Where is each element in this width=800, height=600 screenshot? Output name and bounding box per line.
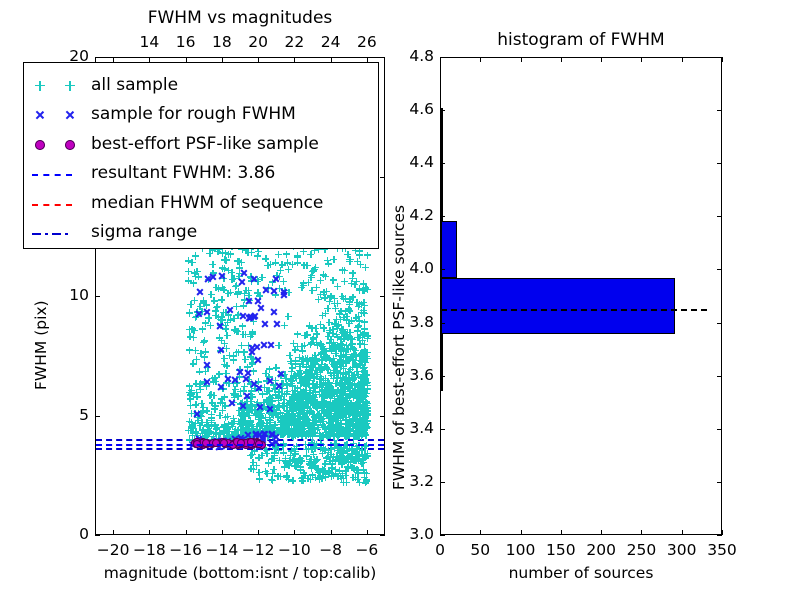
axis-tick [222,530,223,535]
all-sample-marker [221,265,228,272]
all-sample-marker [326,424,333,431]
all-sample-marker [245,287,252,294]
all-sample-marker [334,387,341,394]
all-sample-marker [327,293,334,300]
all-sample-marker [335,417,342,424]
all-sample-marker [231,275,238,282]
all-sample-marker [292,390,299,397]
figure-canvas: FWHM vs magnitudes −20−18−16−14−12−10−8−… [0,0,800,600]
all-sample-marker [354,455,361,462]
all-sample-marker [296,404,303,411]
all-sample-marker [202,368,209,375]
all-sample-marker [352,387,359,394]
all-sample-marker [363,371,370,378]
all-sample-marker [361,402,368,409]
all-sample-marker [329,342,336,349]
rough-fwhm-sample-marker [245,297,253,305]
all-sample-marker [328,405,335,412]
all-sample-marker [213,429,220,436]
all-sample-marker [336,389,343,396]
all-sample-marker [290,430,297,437]
all-sample-marker [297,427,304,434]
all-sample-marker [339,413,346,420]
all-sample-marker [347,366,354,373]
all-sample-marker [327,400,334,407]
all-sample-marker [197,350,204,357]
all-sample-marker [310,451,317,458]
all-sample-marker [341,409,348,416]
all-sample-marker [328,372,335,379]
all-sample-marker [251,406,258,413]
all-sample-marker [188,419,195,426]
all-sample-marker [336,457,343,464]
all-sample-marker [231,428,238,435]
all-sample-marker [289,364,296,371]
all-sample-marker [240,411,247,418]
all-sample-marker [245,249,252,256]
all-sample-marker [336,449,343,456]
all-sample-marker [291,456,298,463]
all-sample-marker [343,313,350,320]
all-sample-marker [331,360,338,367]
all-sample-marker [281,413,288,420]
all-sample-marker [244,395,251,402]
all-sample-marker [268,395,275,402]
all-sample-marker [275,404,282,411]
all-sample-marker [286,415,293,422]
all-sample-marker [340,405,347,412]
all-sample-marker [330,413,337,420]
legend-entry: resultant FWHM: 3.86 [24,160,378,190]
all-sample-marker [201,378,208,385]
all-sample-marker [352,361,359,368]
axis-tick [440,57,445,58]
all-sample-marker [360,307,367,314]
all-sample-marker [346,393,353,400]
all-sample-marker [280,396,287,403]
all-sample-marker [328,451,335,458]
all-sample-marker [324,407,331,414]
all-sample-marker [265,431,272,438]
all-sample-marker [259,427,266,434]
all-sample-marker [268,456,275,463]
all-sample-marker [309,426,316,433]
all-sample-marker [303,453,310,460]
all-sample-marker [220,424,227,431]
all-sample-marker [231,418,238,425]
all-sample-marker [361,353,368,360]
all-sample-marker [286,431,293,438]
all-sample-marker [187,402,194,409]
all-sample-marker [342,394,349,401]
all-sample-marker [356,334,363,341]
all-sample-marker [349,341,356,348]
histogram-bar [441,278,675,335]
all-sample-marker [231,327,238,334]
all-sample-marker [280,426,287,433]
all-sample-marker [343,358,350,365]
all-sample-marker [298,370,305,377]
all-sample-marker [338,475,345,482]
all-sample-marker [345,368,352,375]
all-sample-marker [255,416,262,423]
all-sample-marker [249,329,256,336]
all-sample-marker [351,430,358,437]
all-sample-marker [302,379,309,386]
all-sample-marker [342,416,349,423]
all-sample-marker [269,398,276,405]
all-sample-marker [325,389,332,396]
all-sample-marker [353,466,360,473]
all-sample-marker [254,426,261,433]
rough-fwhm-sample-marker [228,399,236,407]
all-sample-marker [264,403,271,410]
all-sample-marker [340,295,347,302]
all-sample-marker [361,405,368,412]
all-sample-marker [332,466,339,473]
all-sample-marker [218,296,225,303]
all-sample-marker [199,308,206,315]
all-sample-marker [337,375,344,382]
all-sample-marker [348,401,355,408]
all-sample-marker [238,426,245,433]
all-sample-marker [262,370,269,377]
all-sample-marker [315,402,322,409]
all-sample-marker [287,398,294,405]
all-sample-marker [299,477,306,484]
all-sample-marker [353,393,360,400]
all-sample-marker [252,410,259,417]
all-sample-marker [300,405,307,412]
all-sample-marker [311,430,318,437]
all-sample-marker [356,357,363,364]
all-sample-marker [349,416,356,423]
all-sample-marker [358,432,365,439]
all-sample-marker [357,403,364,410]
all-sample-marker [285,428,292,435]
rough-fwhm-sample-marker [224,375,232,383]
all-sample-marker [319,398,326,405]
all-sample-marker [339,449,346,456]
all-sample-marker [340,328,347,335]
all-sample-marker [326,386,333,393]
all-sample-marker [281,419,288,426]
all-sample-marker [194,432,201,439]
all-sample-marker [336,452,343,459]
all-sample-marker [302,389,309,396]
all-sample-marker [327,393,334,400]
all-sample-marker [266,423,273,430]
all-sample-marker [299,407,306,414]
all-sample-marker [185,257,192,264]
all-sample-marker [297,429,304,436]
all-sample-marker [360,309,367,316]
all-sample-marker [305,400,312,407]
all-sample-marker [286,411,293,418]
all-sample-marker [310,335,317,342]
all-sample-marker [208,417,215,424]
all-sample-marker [278,431,285,438]
all-sample-marker [359,428,366,435]
all-sample-marker [339,427,346,434]
all-sample-marker [319,466,326,473]
all-sample-marker [320,413,327,420]
all-sample-marker [342,397,349,404]
all-sample-marker [305,394,312,401]
all-sample-marker [241,432,248,439]
all-sample-marker [280,380,287,387]
axis-tick [95,535,100,536]
all-sample-marker [348,403,355,410]
all-sample-marker [281,371,288,378]
all-sample-marker [259,391,266,398]
all-sample-marker [312,360,319,367]
all-sample-marker [327,403,334,410]
all-sample-marker [200,297,207,304]
all-sample-marker [285,313,292,320]
all-sample-marker [272,391,279,398]
all-sample-marker [260,428,267,435]
all-sample-marker [339,407,346,414]
all-sample-marker [296,456,303,463]
all-sample-marker [271,452,278,459]
all-sample-marker [249,331,256,338]
all-sample-marker [322,387,329,394]
all-sample-marker [357,383,364,390]
axis-tick-label: 3.0 [392,525,434,543]
all-sample-marker [246,420,253,427]
all-sample-marker [297,418,304,425]
all-sample-marker [265,396,272,403]
all-sample-marker [244,364,251,371]
all-sample-marker [314,456,321,463]
all-sample-marker [330,277,337,284]
all-sample-marker [334,427,341,434]
all-sample-marker [290,396,297,403]
all-sample-marker [254,399,261,406]
all-sample-marker [306,420,313,427]
all-sample-marker [293,421,300,428]
all-sample-marker [252,380,259,387]
all-sample-marker [330,326,337,333]
all-sample-marker [342,424,349,431]
all-sample-marker [357,394,364,401]
all-sample-marker [312,415,319,422]
all-sample-marker [248,421,255,428]
all-sample-marker [312,325,319,332]
all-sample-marker [306,322,313,329]
all-sample-marker [261,384,268,391]
all-sample-marker [322,355,329,362]
all-sample-marker [360,331,367,338]
rough-fwhm-sample-marker [218,272,226,280]
all-sample-marker [334,405,341,412]
all-sample-marker [285,418,292,425]
all-sample-marker [309,268,316,275]
all-sample-marker [310,419,317,426]
all-sample-marker [211,297,218,304]
all-sample-marker [360,459,367,466]
all-sample-marker [359,409,366,416]
axis-tick [480,530,481,535]
all-sample-marker [299,422,306,429]
all-sample-marker [339,414,346,421]
all-sample-marker [219,250,226,257]
all-sample-marker [350,412,357,419]
all-sample-marker [241,296,248,303]
all-sample-marker [318,388,325,395]
all-sample-marker [236,270,243,277]
all-sample-marker [339,329,346,336]
all-sample-marker [322,460,329,467]
all-sample-marker [323,455,330,462]
axis-tick [561,57,562,62]
all-sample-marker [351,432,358,439]
all-sample-marker [280,400,287,407]
all-sample-marker [364,412,371,419]
all-sample-marker [309,356,316,363]
all-sample-marker [222,322,229,329]
all-sample-marker [271,455,278,462]
all-sample-marker [340,352,347,359]
all-sample-marker [344,329,351,336]
all-sample-marker [236,264,243,271]
all-sample-marker [262,255,269,262]
all-sample-marker [299,407,306,414]
all-sample-marker [340,329,347,336]
all-sample-marker [342,426,349,433]
all-sample-marker [251,431,258,438]
all-sample-marker [306,422,313,429]
all-sample-marker [283,407,290,414]
all-sample-marker [186,309,193,316]
all-sample-marker [344,464,351,471]
all-sample-marker [337,413,344,420]
all-sample-marker [320,380,327,387]
all-sample-marker [346,320,353,327]
all-sample-marker [342,425,349,432]
all-sample-marker [209,375,216,382]
all-sample-marker [321,423,328,430]
all-sample-marker [273,411,280,418]
all-sample-marker [325,432,332,439]
all-sample-marker [338,399,345,406]
all-sample-marker [338,428,345,435]
all-sample-marker [342,308,349,315]
all-sample-marker [355,457,362,464]
all-sample-marker [263,398,270,405]
all-sample-marker [335,420,342,427]
all-sample-marker [303,368,310,375]
all-sample-marker [334,411,341,418]
all-sample-marker [332,398,339,405]
all-sample-marker [335,431,342,438]
all-sample-marker [333,401,340,408]
all-sample-marker [347,388,354,395]
all-sample-marker [351,372,358,379]
all-sample-marker [355,382,362,389]
all-sample-marker [309,400,316,407]
all-sample-marker [194,309,201,316]
all-sample-marker [335,410,342,417]
all-sample-marker [318,350,325,357]
all-sample-marker [285,462,292,469]
all-sample-marker [208,291,215,298]
all-sample-marker [330,330,337,337]
all-sample-marker [344,408,351,415]
rough-fwhm-sample-marker [266,377,274,385]
all-sample-marker [354,324,361,331]
all-sample-marker [240,331,247,338]
all-sample-marker [297,424,304,431]
all-sample-marker [345,459,352,466]
all-sample-marker [345,454,352,461]
all-sample-marker [307,476,314,483]
all-sample-marker [337,387,344,394]
all-sample-marker [349,294,356,301]
all-sample-marker [305,358,312,365]
rough-fwhm-sample-marker [245,314,253,322]
all-sample-marker [274,473,281,480]
all-sample-marker [353,415,360,422]
all-sample-marker [223,362,230,369]
all-sample-marker [195,410,202,417]
all-sample-marker [337,358,344,365]
all-sample-marker [305,428,312,435]
all-sample-marker [290,373,297,380]
histogram-axes [440,57,722,535]
all-sample-marker [273,428,280,435]
all-sample-marker [337,415,344,422]
all-sample-marker [294,331,301,338]
all-sample-marker [352,411,359,418]
all-sample-marker [344,405,351,412]
all-sample-marker [306,368,313,375]
all-sample-marker [294,417,301,424]
all-sample-marker [363,402,370,409]
all-sample-marker [301,332,308,339]
all-sample-marker [326,468,333,475]
all-sample-marker [363,410,370,417]
all-sample-marker [278,425,285,432]
all-sample-marker [243,402,250,409]
all-sample-marker [342,417,349,424]
all-sample-marker [243,422,250,429]
axis-tick [682,57,683,62]
all-sample-marker [195,273,202,280]
all-sample-marker [321,388,328,395]
all-sample-marker [278,421,285,428]
all-sample-marker [290,406,297,413]
all-sample-marker [354,371,361,378]
all-sample-marker [187,392,194,399]
all-sample-marker [214,303,221,310]
all-sample-marker [189,432,196,439]
all-sample-marker [213,304,220,311]
all-sample-marker [283,474,290,481]
all-sample-marker [277,424,284,431]
all-sample-marker [360,379,367,386]
all-sample-marker [303,369,310,376]
all-sample-marker [296,426,303,433]
rough-fwhm-sample-marker [279,288,287,296]
all-sample-marker [338,425,345,432]
all-sample-marker [256,403,263,410]
all-sample-marker [193,430,200,437]
all-sample-marker [267,429,274,436]
all-sample-marker [288,415,295,422]
all-sample-marker [318,361,325,368]
